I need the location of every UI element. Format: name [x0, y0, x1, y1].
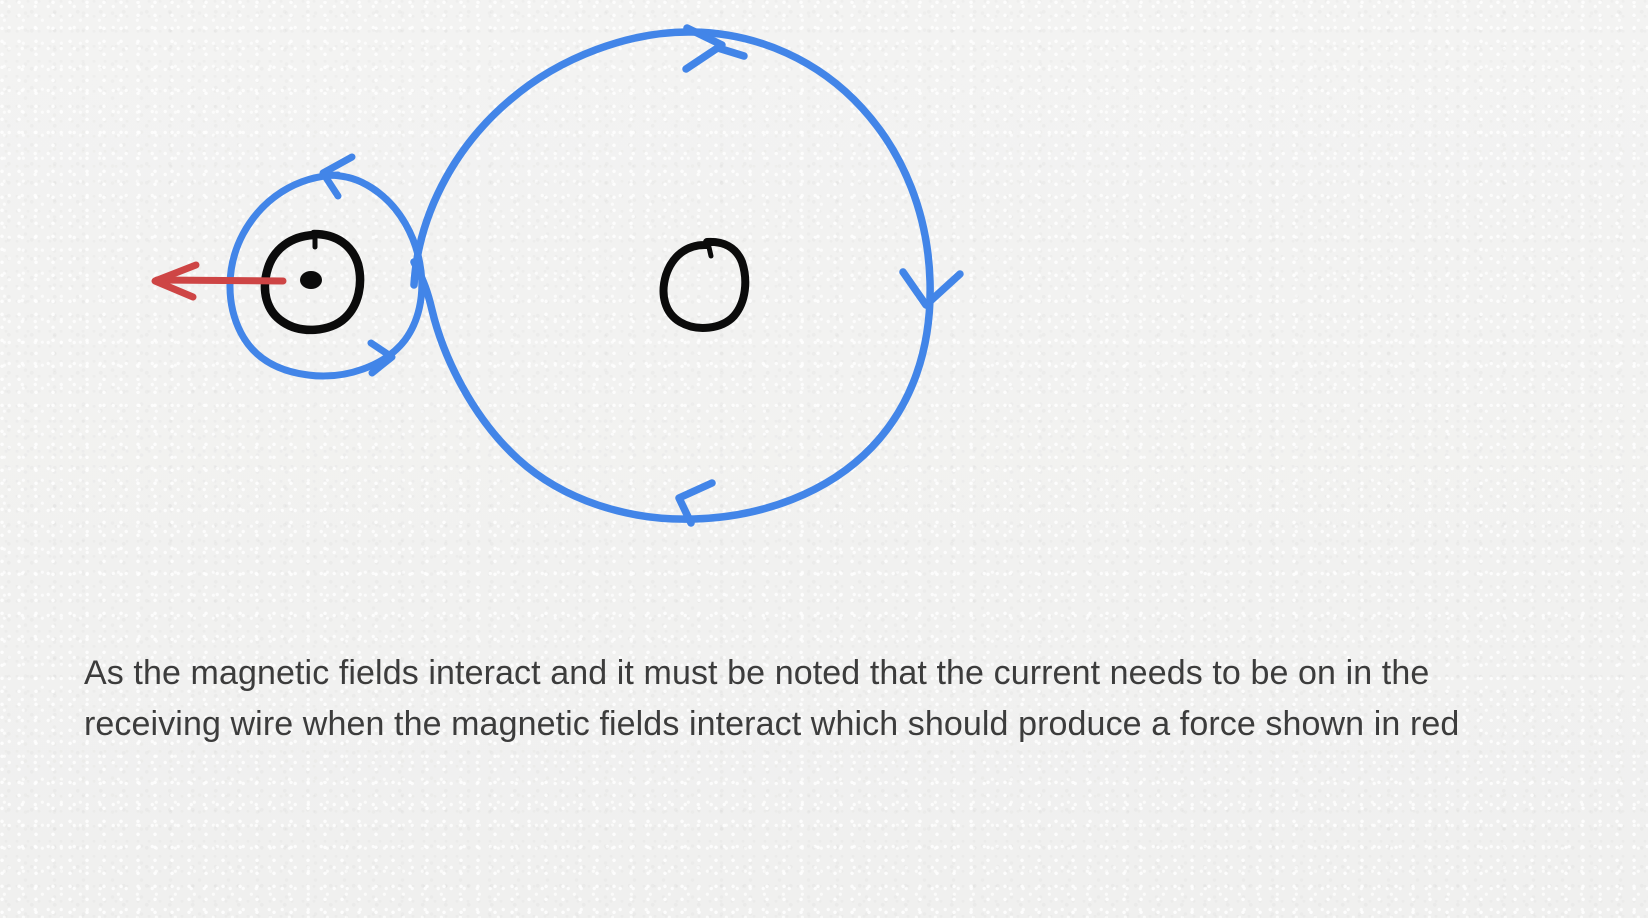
right-wire-cross-section: [664, 242, 746, 328]
large-loop-top-arrowhead-tail: [718, 48, 744, 56]
small-field-loop: [230, 157, 422, 376]
right-wire-tick: [708, 243, 711, 256]
force-arrow-shaft: [157, 280, 283, 281]
left-wire-current-dot: [300, 271, 322, 289]
whiteboard-drawing-canvas: [0, 0, 1648, 918]
right-wire-circle: [664, 242, 746, 328]
large-field-loop-path: [414, 32, 930, 519]
large-field-loop: [414, 28, 960, 523]
small-field-loop-path: [230, 175, 422, 376]
caption-text: As the magnetic fields interact and it m…: [84, 648, 1514, 750]
